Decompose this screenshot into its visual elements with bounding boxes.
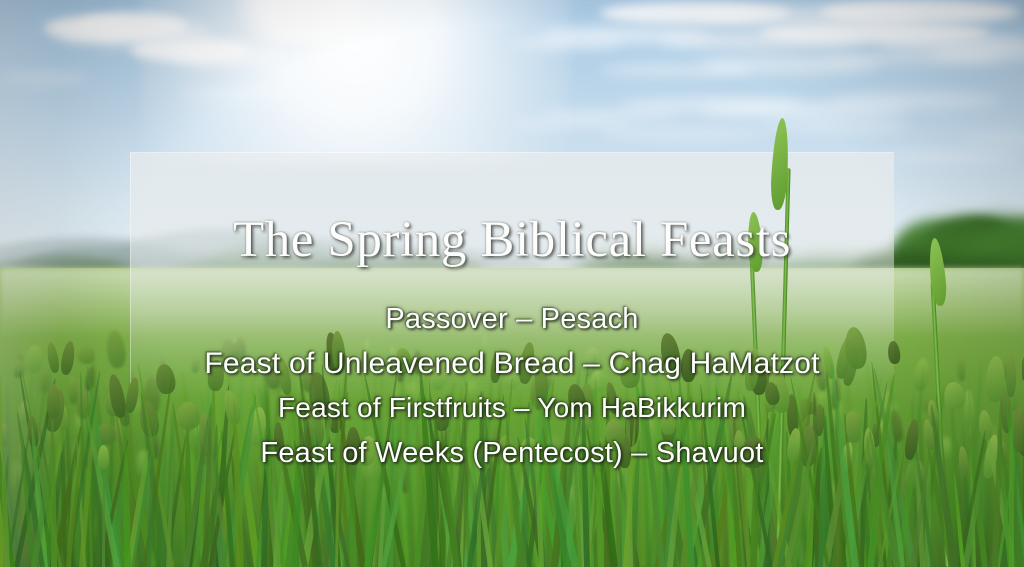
cloud-puff <box>600 126 770 140</box>
cloud-puff <box>0 70 90 86</box>
grass-layer-front <box>0 360 1024 567</box>
cloud-puff <box>172 44 282 66</box>
grass-seed-head <box>276 357 293 395</box>
grass-seed-head <box>207 359 225 391</box>
spring-feasts-banner: The Spring Biblical Feasts Passover – Pe… <box>0 0 1024 567</box>
grass-seed-head <box>815 403 825 435</box>
sun-icon <box>236 0 372 42</box>
cloud-puff <box>96 34 156 50</box>
cloud-puff <box>830 92 1000 108</box>
grass-seed-head <box>154 363 177 395</box>
grass-seed-head <box>985 356 1006 402</box>
grass-seed-head <box>957 446 969 478</box>
grass-seed-head <box>620 355 640 388</box>
cloud-puff <box>60 26 106 37</box>
cloud-puff <box>180 86 300 100</box>
grass-seed-head <box>345 426 361 465</box>
grass-blade <box>639 377 665 567</box>
grass-seed-head <box>942 380 967 409</box>
grass-seed-head <box>98 445 110 469</box>
cloud-puff <box>512 36 622 50</box>
grass-blade <box>49 412 56 567</box>
grass-seed-head <box>273 422 285 462</box>
grass-seed-head <box>1006 353 1016 397</box>
cloud-puff <box>600 62 750 78</box>
grass-seed-head <box>681 349 696 382</box>
cloud-puff <box>820 0 1020 24</box>
cloud-puff <box>880 150 1020 162</box>
grass-blade <box>1009 389 1014 567</box>
grass-seed-head <box>534 362 549 405</box>
grass-seed-head <box>124 376 140 413</box>
